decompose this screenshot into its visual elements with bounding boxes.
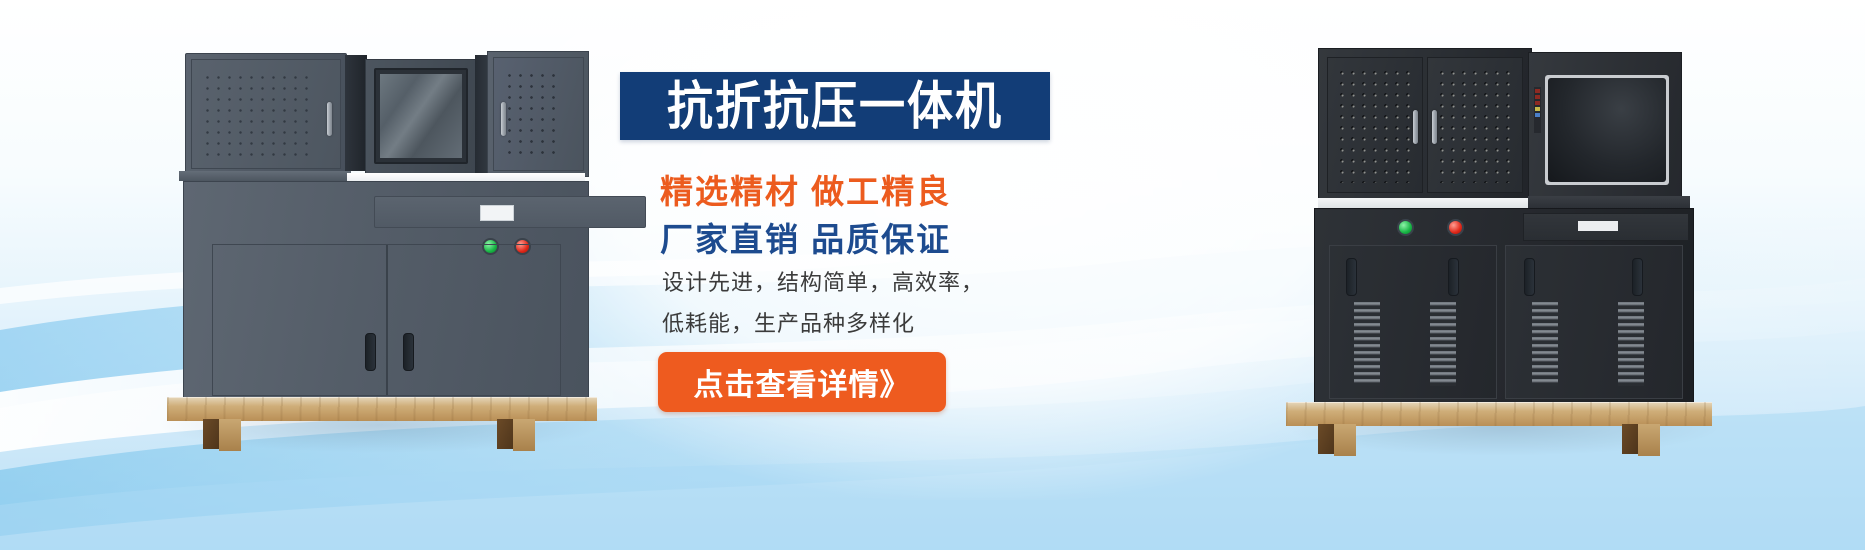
pallet-foot-shadow xyxy=(1622,424,1638,454)
door-split-line xyxy=(386,245,388,395)
indicator-led xyxy=(1535,101,1540,105)
page-title: 抗折抗压一体机 xyxy=(667,80,1003,132)
view-details-button[interactable]: 点击查看详情》 xyxy=(658,352,946,412)
tagline-blue: 厂家直销 品质保证 xyxy=(660,213,951,261)
monitor-button-strip xyxy=(1534,87,1541,133)
right-machine-upper-cabinet xyxy=(1318,48,1532,202)
product-image-right-machine xyxy=(1290,42,1710,442)
right-machine-lower-body xyxy=(1314,208,1694,406)
right-machine-monitor xyxy=(1528,52,1682,202)
pallet-foot xyxy=(1638,424,1660,456)
pallet-foot xyxy=(219,419,241,451)
door-handle xyxy=(1632,258,1643,296)
monitor-screen xyxy=(1548,78,1666,182)
cabinet-handle-right xyxy=(1432,110,1437,144)
perforation-pattern-icon xyxy=(504,70,557,158)
left-machine-monitor xyxy=(365,59,477,177)
left-machine-lower-body xyxy=(183,181,589,401)
perforated-door xyxy=(493,57,584,171)
nameplate-label xyxy=(1578,221,1618,231)
vent-louver xyxy=(1354,302,1380,386)
door-handle-right xyxy=(403,333,414,371)
power-indicator-green xyxy=(1397,219,1414,236)
pallet-foot xyxy=(1334,424,1356,456)
banner-text-block: 抗折抗压一体机 精选精材 做工精良 厂家直销 品质保证 设计先进，结构简单，高效… xyxy=(620,60,1260,500)
description-line-1: 设计先进，结构简单，高效率， xyxy=(662,265,984,297)
perforated-door-left xyxy=(1327,57,1423,193)
pallet-foot xyxy=(513,419,535,451)
perforation-pattern-icon xyxy=(1436,67,1514,183)
cabinet-handle xyxy=(501,102,506,136)
indicator-led xyxy=(1535,89,1540,93)
left-machine-cabinet-doors xyxy=(212,244,561,396)
left-machine-wood-pallet xyxy=(167,397,597,421)
right-machine-control-drawer xyxy=(1523,213,1689,241)
monitor-bezel xyxy=(374,68,468,164)
right-machine-wood-pallet xyxy=(1286,402,1712,426)
right-machine-door-2 xyxy=(1505,245,1683,399)
tagline-orange: 精选精材 做工精良 xyxy=(660,165,951,213)
vent-louver xyxy=(1532,302,1558,386)
vent-louver xyxy=(1618,302,1644,386)
door-handle xyxy=(1346,258,1357,296)
pallet-foot-shadow xyxy=(497,419,513,449)
pallet-foot-shadow xyxy=(203,419,219,449)
power-indicator-red xyxy=(1447,219,1464,236)
left-machine-top-section xyxy=(165,45,585,185)
wood-grain-texture xyxy=(1286,402,1712,426)
left-machine-side-panel xyxy=(345,55,367,171)
indicator-led xyxy=(1535,107,1540,111)
perforated-door xyxy=(191,59,341,169)
product-image-left-machine xyxy=(165,45,585,435)
pallet-foot-shadow xyxy=(1318,424,1334,454)
cabinet-handle-left xyxy=(1413,110,1418,144)
indicator-led xyxy=(1535,113,1540,117)
headline-bar: 抗折抗压一体机 xyxy=(620,72,1050,140)
door-handle-left xyxy=(365,333,376,371)
wood-grain-texture xyxy=(167,397,597,421)
right-machine-door-1 xyxy=(1329,245,1497,399)
vent-louver xyxy=(1430,302,1456,386)
left-machine-control-drawer xyxy=(374,196,646,228)
monitor-screen xyxy=(380,74,462,158)
promo-banner: 抗折抗压一体机 精选精材 做工精良 厂家直销 品质保证 设计先进，结构简单，高效… xyxy=(0,0,1865,550)
left-machine-right-cabinet xyxy=(487,51,589,177)
nameplate-label xyxy=(480,205,514,221)
left-machine-upper-cabinet xyxy=(185,53,347,175)
perforated-door-right xyxy=(1427,57,1523,193)
door-handle xyxy=(1448,258,1459,296)
indicator-led xyxy=(1535,95,1540,99)
cabinet-handle xyxy=(327,102,332,136)
description-line-2: 低耗能，生产品种多样化 xyxy=(662,306,915,338)
left-machine-ledge xyxy=(179,171,351,181)
right-machine-shelf xyxy=(1528,196,1690,208)
perforation-pattern-icon xyxy=(202,72,314,156)
door-handle xyxy=(1524,258,1535,296)
monitor-bezel xyxy=(1545,75,1669,185)
perforation-pattern-icon xyxy=(1336,67,1414,183)
